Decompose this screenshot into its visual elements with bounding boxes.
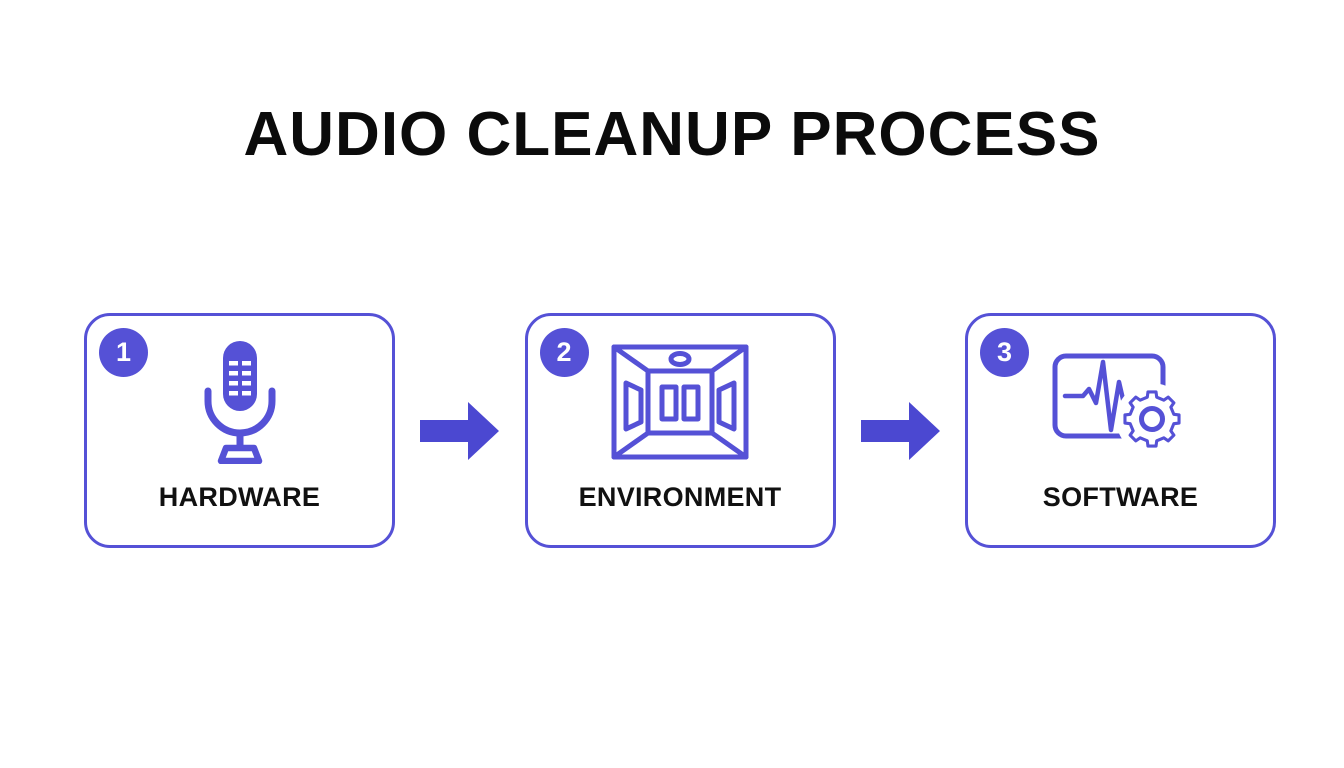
studio-room-icon — [610, 339, 750, 464]
step-card-hardware[interactable]: 1 HARDWARE — [84, 313, 395, 548]
arrow-right-icon — [859, 400, 942, 462]
step-number-badge: 3 — [980, 328, 1029, 377]
waveform-gear-icon — [1051, 339, 1191, 464]
step-label: ENVIRONMENT — [528, 484, 833, 511]
step-number-badge: 2 — [540, 328, 589, 377]
step-label: HARDWARE — [87, 484, 392, 511]
page-title: AUDIO CLEANUP PROCESS — [0, 104, 1344, 166]
step-number-badge: 1 — [99, 328, 148, 377]
process-flow: 1 HARDWARE — [84, 313, 1276, 548]
arrow-right-icon — [418, 400, 501, 462]
step-label: SOFTWARE — [968, 484, 1273, 511]
step-card-environment[interactable]: 2 — [525, 313, 836, 548]
step-card-software[interactable]: 3 SOFTWARE — [965, 313, 1276, 548]
microphone-icon — [192, 339, 288, 464]
